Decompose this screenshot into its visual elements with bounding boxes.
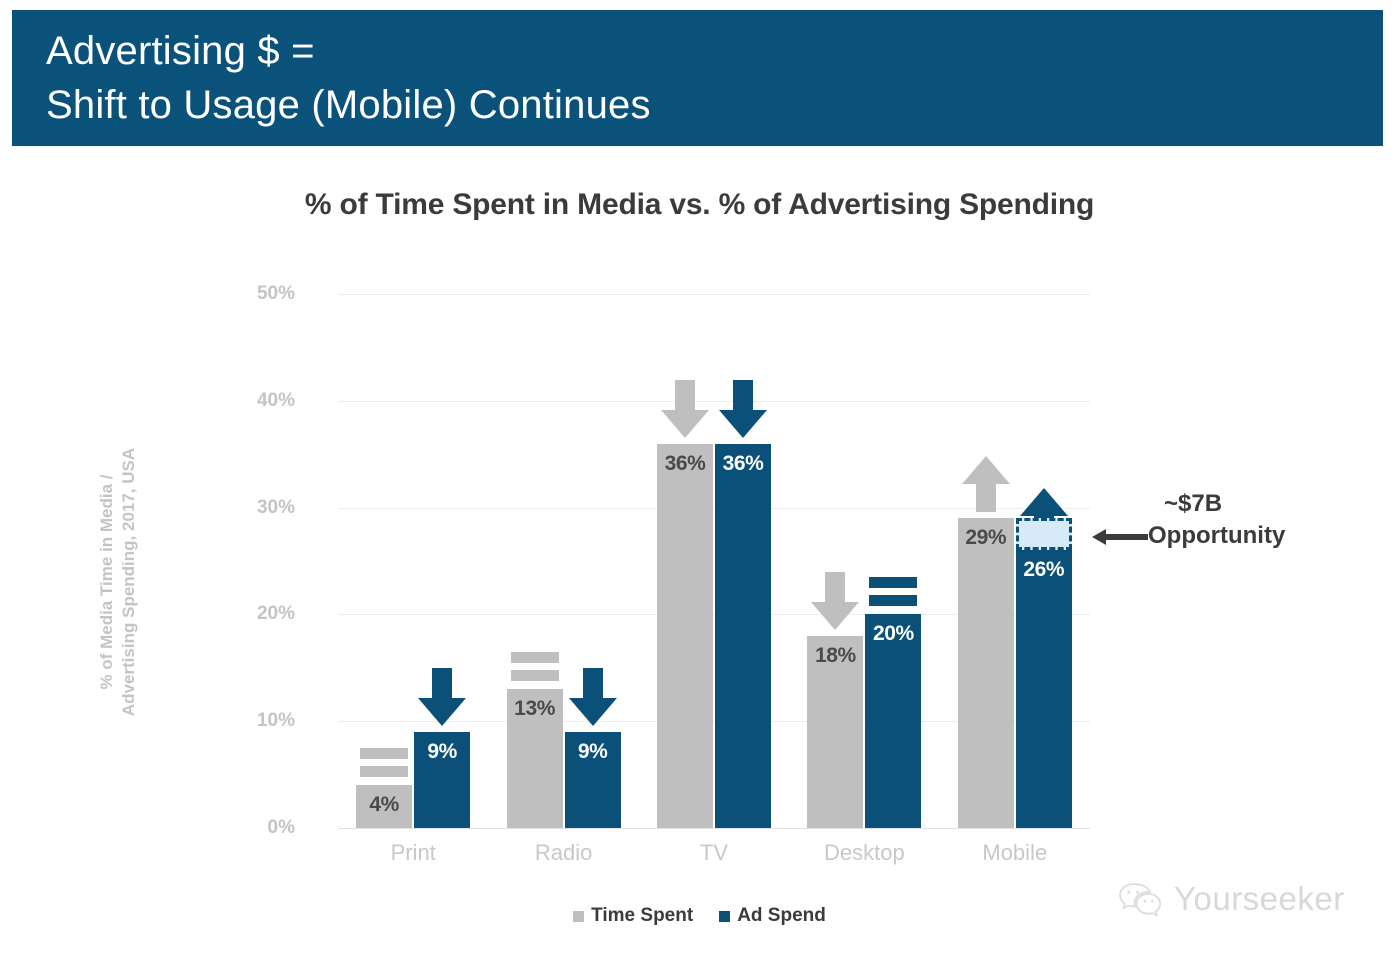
x-axis-label-radio: Radio [488, 840, 638, 866]
opportunity-value-label: ~$7B [1148, 488, 1285, 520]
down-arrow-marker-radio-ad-spend [567, 668, 619, 728]
bar-value-label: 29% [954, 526, 1018, 550]
y-axis-tick-label: 40% [215, 390, 295, 412]
x-axis-label-mobile: Mobile [940, 840, 1090, 866]
down-arrow-marker-tv-time-spent [659, 380, 711, 440]
opportunity-annotation: ~$7BOpportunity [1148, 488, 1285, 552]
bar-mobile-time-spent [958, 518, 1014, 828]
bar-mobile-ad-spend [1016, 550, 1072, 828]
down-arrow-marker-print-ad-spend [416, 668, 468, 728]
y-axis-tick-label: 0% [215, 817, 295, 839]
bar-value-label: 20% [861, 622, 925, 646]
y-axis-title: % of Media Time in Media / Advertising S… [96, 372, 140, 792]
bar-tv-time-spent [657, 444, 713, 828]
bar-desktop-ad-spend [865, 614, 921, 828]
bar-value-label: 9% [561, 740, 625, 764]
up-arrow-marker-mobile-time-spent [960, 454, 1012, 514]
y-axis-tick-label: 30% [215, 497, 295, 519]
watermark: Yourseeker [1118, 880, 1345, 918]
down-arrow-marker-desktop-time-spent [809, 572, 861, 632]
bar-value-label: 4% [352, 793, 416, 817]
x-axis-label-desktop: Desktop [789, 840, 939, 866]
legend-item-ad-spend[interactable]: Ad Spend [719, 905, 826, 927]
bar-value-label: 13% [503, 697, 567, 721]
bar-value-label: 36% [653, 452, 717, 476]
chart-title: % of Time Spent in Media vs. % of Advert… [0, 188, 1399, 222]
opportunity-pointer-arrow-icon [1092, 528, 1148, 551]
bar-value-label: 18% [803, 644, 867, 668]
gridline [338, 294, 1090, 295]
bar-tv-ad-spend [715, 444, 771, 828]
x-axis-label-tv: TV [639, 840, 789, 866]
gridline [338, 401, 1090, 402]
legend-label: Ad Spend [737, 905, 826, 927]
watermark-label: Yourseeker [1174, 880, 1345, 918]
legend-swatch [573, 911, 584, 922]
equals-marker-radio-time-spent [509, 649, 561, 685]
gridline [338, 828, 1090, 829]
legend-item-time-spent[interactable]: Time Spent [573, 905, 693, 927]
x-axis-label-print: Print [338, 840, 488, 866]
equals-marker-desktop-ad-spend [867, 574, 919, 610]
opportunity-box [1016, 518, 1072, 550]
legend-label: Time Spent [591, 905, 693, 927]
bar-value-label: 9% [410, 740, 474, 764]
y-axis-tick-label: 10% [215, 710, 295, 732]
down-arrow-marker-tv-ad-spend [717, 380, 769, 440]
equals-marker-print-time-spent [358, 745, 410, 781]
opportunity-caption-label: Opportunity [1148, 522, 1285, 549]
legend-swatch [719, 911, 730, 922]
bar-value-label: 26% [1012, 558, 1076, 582]
bar-value-label: 36% [711, 452, 775, 476]
y-axis-tick-label: 20% [215, 603, 295, 625]
wechat-icon [1118, 881, 1164, 917]
chart-container: % of Time Spent in Media vs. % of Advert… [0, 0, 1399, 960]
y-axis-tick-label: 50% [215, 283, 295, 305]
